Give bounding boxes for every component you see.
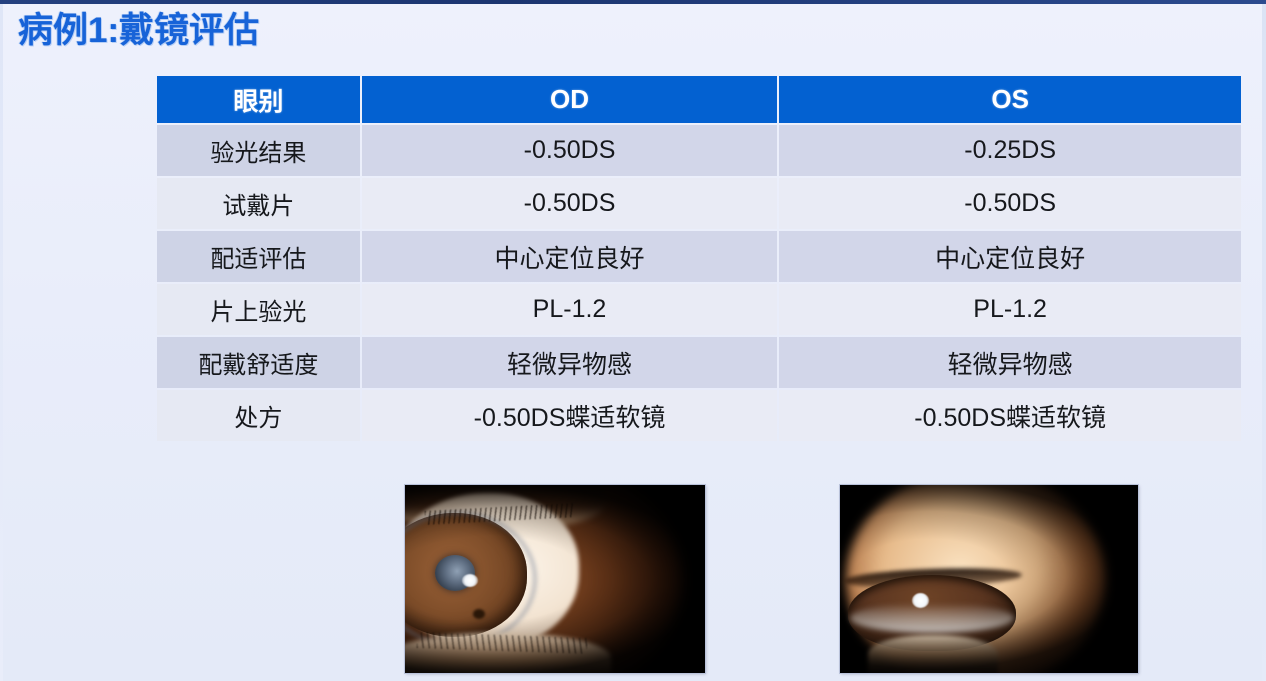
table-row: 试戴片 -0.50DS -0.50DS xyxy=(157,178,1241,229)
row-label-fitting-assessment: 配适评估 xyxy=(157,231,360,282)
cell-od-trial-lens: -0.50DS xyxy=(362,178,778,229)
row-label-refraction: 验光结果 xyxy=(157,125,360,176)
row-label-over-refraction: 片上验光 xyxy=(157,284,360,335)
cell-od-comfort: 轻微异物感 xyxy=(362,337,778,388)
cell-os-over-refraction: PL-1.2 xyxy=(779,284,1241,335)
table-row: 验光结果 -0.50DS -0.25DS xyxy=(157,125,1241,176)
cell-od-over-refraction: PL-1.2 xyxy=(362,284,778,335)
od-eye-photo xyxy=(405,485,705,673)
table-header: 眼别 OD OS xyxy=(157,76,1241,123)
row-label-prescription: 处方 xyxy=(157,390,360,441)
cell-os-prescription: -0.50DS蝶适软镜 xyxy=(779,390,1241,441)
cell-od-prescription: -0.50DS蝶适软镜 xyxy=(362,390,778,441)
cell-os-trial-lens: -0.50DS xyxy=(779,178,1241,229)
evaluation-table: 眼别 OD OS 验光结果 -0.50DS -0.25DS 试戴片 -0.50D… xyxy=(155,74,1243,443)
cell-od-refraction: -0.50DS xyxy=(362,125,778,176)
table-row: 配戴舒适度 轻微异物感 轻微异物感 xyxy=(157,337,1241,388)
table-row: 处方 -0.50DS蝶适软镜 -0.50DS蝶适软镜 xyxy=(157,390,1241,441)
cell-od-fitting-assessment: 中心定位良好 xyxy=(362,231,778,282)
table-body: 验光结果 -0.50DS -0.25DS 试戴片 -0.50DS -0.50DS… xyxy=(157,125,1241,441)
left-edge-strip xyxy=(0,4,3,681)
header-cell-os: OS xyxy=(779,76,1241,123)
cell-os-refraction: -0.25DS xyxy=(779,125,1241,176)
right-edge-strip xyxy=(1262,4,1266,681)
cell-os-fitting-assessment: 中心定位良好 xyxy=(779,231,1241,282)
header-cell-od: OD xyxy=(362,76,778,123)
table-row: 配适评估 中心定位良好 中心定位良好 xyxy=(157,231,1241,282)
od-photo-vignette xyxy=(405,485,705,673)
os-photo-vignette xyxy=(840,485,1138,673)
table-row: 片上验光 PL-1.2 PL-1.2 xyxy=(157,284,1241,335)
top-border-strip xyxy=(0,0,1266,4)
cell-os-comfort: 轻微异物感 xyxy=(779,337,1241,388)
slide-canvas: 病例1:戴镜评估 眼别 OD OS 验光结果 -0.50DS -0.25DS 试… xyxy=(0,0,1266,681)
header-row: 眼别 OD OS xyxy=(157,76,1241,123)
os-eye-photo xyxy=(840,485,1138,673)
header-cell-eye-label: 眼别 xyxy=(157,76,360,123)
row-label-comfort: 配戴舒适度 xyxy=(157,337,360,388)
page-title: 病例1:戴镜评估 xyxy=(18,9,259,53)
row-label-trial-lens: 试戴片 xyxy=(157,178,360,229)
